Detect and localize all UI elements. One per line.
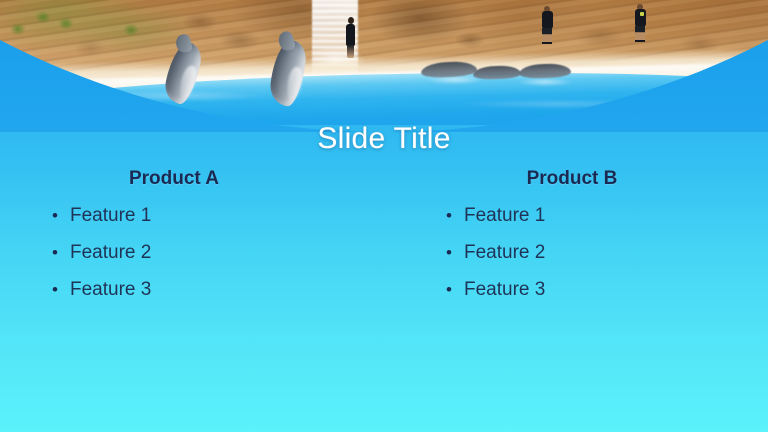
feature-label: Feature 3 [464, 280, 545, 299]
column-product-a: Product A • Feature 1 • Feature 2 • Feat… [0, 168, 384, 308]
list-item: • Feature 1 [438, 197, 768, 234]
grass-tuft [28, 4, 58, 26]
product-a-heading: Product A [44, 168, 304, 190]
product-a-feature-list: • Feature 1 • Feature 2 • Feature 3 [44, 197, 384, 308]
list-item: • Feature 2 [44, 234, 384, 271]
person-torso [346, 24, 355, 46]
column-product-b: Product B • Feature 1 • Feature 2 • Feat… [384, 168, 768, 308]
bullet-icon: • [44, 281, 70, 298]
grass-tuft [8, 20, 28, 35]
trainer-legs [542, 28, 552, 44]
grass-tuft [118, 18, 144, 38]
feature-label: Feature 2 [70, 243, 151, 262]
bullet-icon: • [44, 207, 70, 224]
product-b-feature-list: • Feature 1 • Feature 2 • Feature 3 [438, 197, 768, 308]
feature-label: Feature 2 [464, 243, 545, 262]
feature-label: Feature 3 [70, 280, 151, 299]
grass-tuft [55, 14, 77, 30]
trainer-badge [640, 12, 644, 16]
presentation-slide: Slide Title Product A • Feature 1 • Feat… [0, 0, 768, 432]
list-item: • Feature 1 [44, 197, 384, 234]
feature-label: Feature 1 [70, 206, 151, 225]
trainer-legs [635, 26, 645, 42]
pool-shimmer [0, 88, 768, 120]
banner-photo [0, 0, 768, 125]
bullet-icon: • [438, 207, 464, 224]
product-b-heading: Product B [438, 168, 706, 190]
list-item: • Feature 2 [438, 234, 768, 271]
bullet-icon: • [438, 244, 464, 261]
trainer [540, 6, 554, 46]
trainer [633, 4, 647, 46]
list-item: • Feature 3 [438, 271, 768, 308]
page-title: Slide Title [0, 122, 768, 156]
list-item: • Feature 3 [44, 271, 384, 308]
person-head [348, 17, 354, 24]
feature-label: Feature 1 [464, 206, 545, 225]
bullet-icon: • [438, 281, 464, 298]
person-under-waterfall [345, 14, 356, 58]
content-columns: Product A • Feature 1 • Feature 2 • Feat… [0, 168, 768, 308]
trainer-torso [542, 11, 553, 29]
bullet-icon: • [44, 244, 70, 261]
